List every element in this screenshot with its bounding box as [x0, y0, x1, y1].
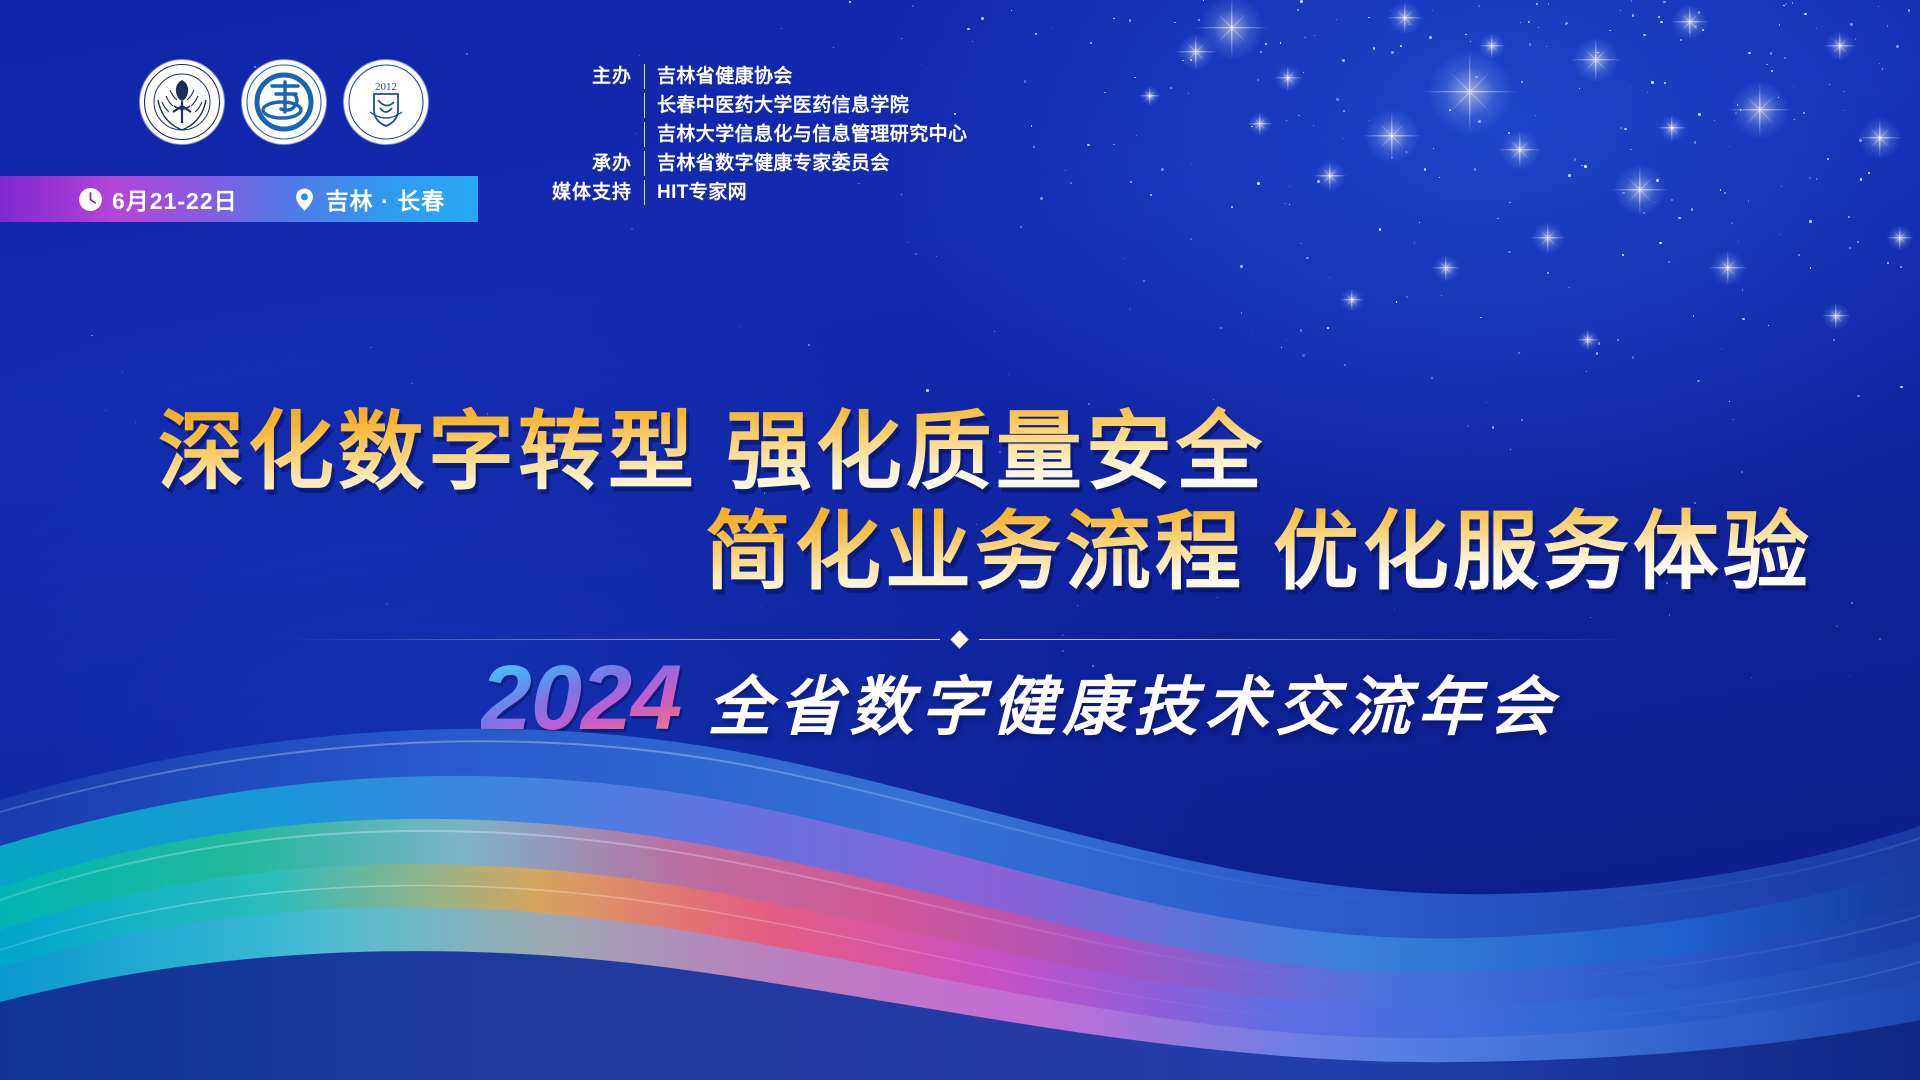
credit-row: 吉林大学信息化与信息管理研究中心: [540, 120, 1160, 149]
event-date-text: 6月21-22日: [112, 182, 238, 216]
credit-value: 长春中医药大学医药信息学院: [657, 91, 909, 120]
credit-divider: [644, 122, 645, 147]
credit-divider: [644, 93, 645, 118]
credit-value: 吉林大学信息化与信息管理研究中心: [657, 120, 967, 149]
credit-row: 媒体支持 HIT专家网: [540, 178, 1160, 207]
wave-decoration: [0, 650, 1920, 1080]
divider-line-left: [284, 639, 940, 640]
event-location-text: 吉林 · 长春: [326, 182, 445, 216]
headline-line-2: 简化业务流程 优化服务体验: [705, 500, 1920, 604]
conference-banner: 2012 主办 吉林省健康协会 长春中医药大学医药信息学院: [0, 0, 1920, 1080]
divider-line-right: [979, 639, 1635, 640]
credit-label: 媒体支持: [540, 178, 632, 207]
credit-divider: [644, 64, 645, 89]
divider-diamond-icon: [950, 630, 968, 648]
headline-block: 深化数字转型 强化质量安全 简化业务流程 优化服务体验: [0, 400, 1920, 604]
banner-header: 2012 主办 吉林省健康协会 长春中医药大学医药信息学院: [0, 0, 1920, 240]
clock-icon: [78, 187, 103, 212]
event-date: 6月21-22日: [78, 182, 238, 216]
credit-value: 吉林省数字健康专家委员会: [657, 149, 890, 178]
credit-row: 承办 吉林省数字健康专家委员会: [540, 149, 1160, 178]
credit-value: HIT专家网: [657, 178, 747, 207]
credit-value: 吉林省健康协会: [657, 62, 793, 91]
event-location: 吉林 · 长春: [292, 182, 445, 216]
date-location-bar: 6月21-22日 吉林 · 长春: [0, 176, 478, 222]
school-of-medical-information-logo: [242, 60, 326, 144]
credit-row: 主办 吉林省健康协会: [540, 62, 1160, 91]
informatization-research-center-logo: 2012: [344, 60, 428, 144]
svg-text:2012: 2012: [375, 81, 397, 93]
credit-divider: [644, 180, 645, 205]
credit-divider: [644, 151, 645, 176]
jilin-health-association-logo: [140, 60, 224, 144]
organizer-logos: 2012: [140, 60, 428, 144]
credit-row: 长春中医药大学医药信息学院: [540, 91, 1160, 120]
credit-label: 承办: [540, 149, 632, 178]
credit-label: 主办: [540, 62, 632, 91]
organizer-credits: 主办 吉林省健康协会 长春中医药大学医药信息学院 吉林大学信息化与信息管理研究中…: [540, 62, 1160, 207]
location-pin-icon: [292, 187, 317, 212]
headline-line-1: 深化数字转型 强化质量安全: [158, 400, 1920, 504]
